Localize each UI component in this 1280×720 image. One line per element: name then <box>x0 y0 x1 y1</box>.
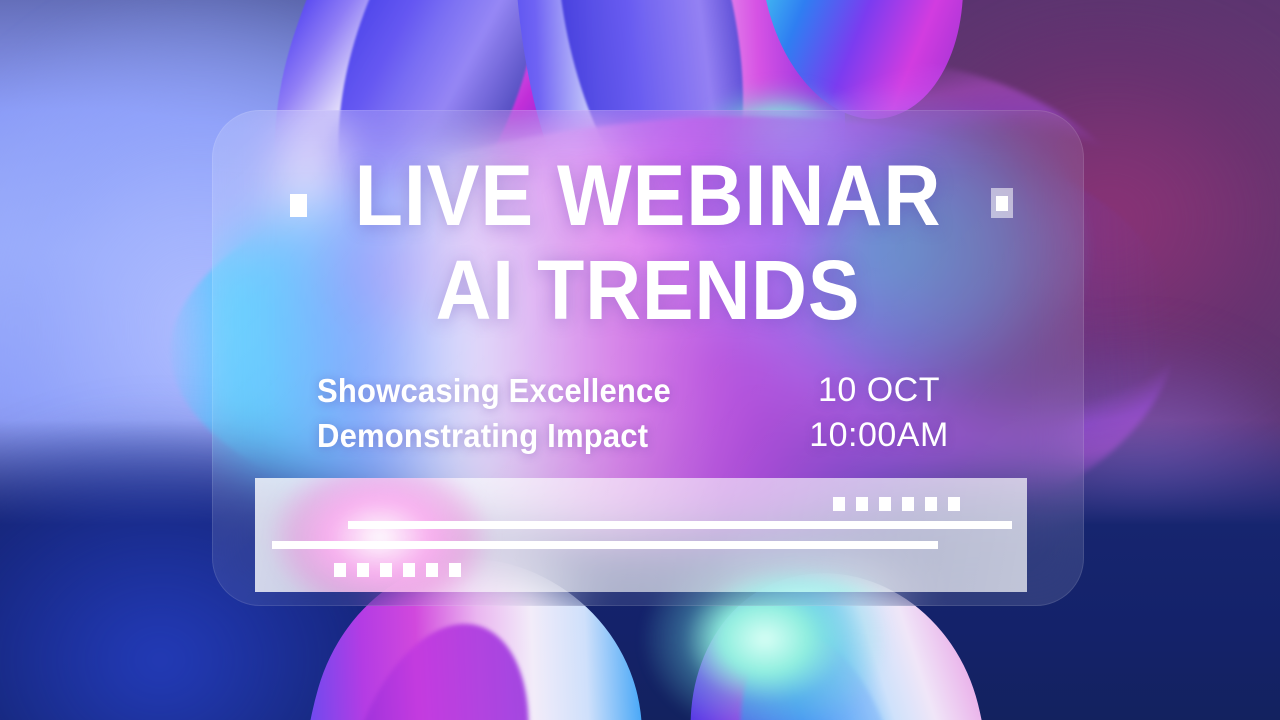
panel-dots-bottom <box>334 563 461 577</box>
event-time: 10:00AM <box>779 413 979 458</box>
headline-line-1: LIVE WEBINAR <box>247 150 1049 242</box>
square-dot <box>902 497 914 511</box>
square-dot <box>357 563 369 577</box>
subtitle-line-1: Showcasing Excellence <box>317 368 693 413</box>
event-date: 10 OCT <box>779 368 979 413</box>
subtitle-line-2: Demonstrating Impact <box>317 413 693 458</box>
subtitle-schedule-row: Showcasing Excellence Demonstrating Impa… <box>212 368 1084 458</box>
square-dot <box>449 563 461 577</box>
poster-canvas: LIVE WEBINAR AI TRENDS Showcasing Excell… <box>0 0 1280 720</box>
square-dot <box>334 563 346 577</box>
square-dot <box>833 497 845 511</box>
panel-bar-top <box>348 521 1012 529</box>
headline-row-1: LIVE WEBINAR <box>212 150 1084 246</box>
square-dot <box>879 497 891 511</box>
square-dot <box>856 497 868 511</box>
schedule-block: 10 OCT 10:00AM <box>779 368 979 458</box>
panel-bar-bottom <box>272 541 938 549</box>
subtitle-block: Showcasing Excellence Demonstrating Impa… <box>317 368 717 458</box>
panel-dots-top <box>833 497 960 511</box>
headline-block: LIVE WEBINAR AI TRENDS <box>212 150 1084 342</box>
square-dot <box>403 563 415 577</box>
square-marker-icon-right <box>991 188 1013 218</box>
headline-line-2: AI TRENDS <box>247 246 1049 334</box>
headline-row-2: AI TRENDS <box>212 246 1084 342</box>
bottom-panel <box>255 478 1027 592</box>
square-marker-inner <box>996 196 1008 211</box>
square-dot <box>380 563 392 577</box>
square-dot <box>948 497 960 511</box>
square-dot <box>925 497 937 511</box>
square-dot <box>426 563 438 577</box>
